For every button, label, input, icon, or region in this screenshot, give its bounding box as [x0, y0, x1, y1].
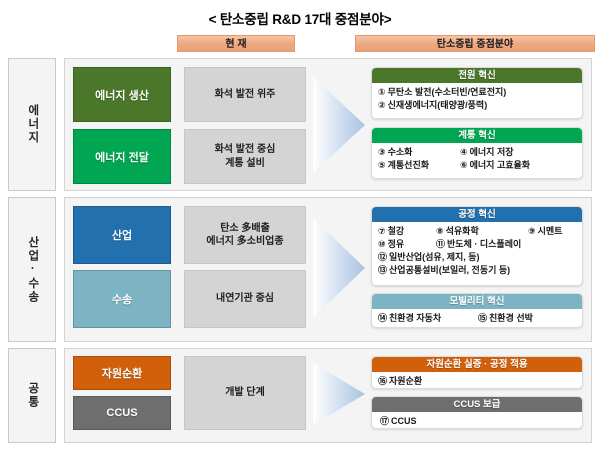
- card-body: ⑰CCUS: [372, 412, 582, 429]
- card-body: ①무탄소 발전(수소터빈/연료전지) ②신재생에너지(태양광/풍력): [372, 83, 582, 114]
- current-state-common: 개발 단계: [184, 356, 306, 430]
- category-label-energy: 에너지: [26, 104, 38, 145]
- current-state-text: 화석 발전 위주: [215, 88, 276, 102]
- list-item: ⑯자원순환: [378, 375, 576, 388]
- current-state-text: 화석 발전 중심 계통 설비: [215, 143, 276, 170]
- panel-energy: 에너지 생산 에너지 전달 화석 발전 위주 화석 발전 중심 계통 설비: [64, 58, 592, 191]
- list-item: ⑰CCUS: [378, 415, 576, 428]
- card-body: ③수소화 ④에너지 저장 ⑤계통선진화 ⑥에너지 고효율화: [372, 143, 582, 174]
- card-head-mobility-innovation: 모빌리티 혁신: [372, 294, 582, 309]
- list-item: ⑤계통선진화 ⑥에너지 고효율화: [378, 159, 576, 172]
- category-box-energy: 에너지: [8, 58, 56, 191]
- panel-common: 자원순환 CCUS 개발 단계 자원순환 실증 · 공정 적용: [64, 348, 592, 443]
- list-item: ⑬산업공통설비(보일러, 전동기 등): [378, 264, 576, 277]
- chip-energy-delivery: 에너지 전달: [73, 129, 171, 184]
- arrow-icon: [313, 210, 365, 326]
- category-box-industry-transport: 산업·수송: [8, 197, 56, 342]
- card-head-ccus-deployment: CCUS 보급: [372, 397, 582, 412]
- card-head-grid-innovation: 계통 혁신: [372, 128, 582, 143]
- chip-ccus: CCUS: [73, 396, 171, 430]
- card-grid-innovation: 계통 혁신 ③수소화 ④에너지 저장 ⑤계통선진화 ⑥에너지 고효율화: [371, 127, 583, 179]
- list-item: ①무탄소 발전(수소터빈/연료전지): [378, 86, 576, 99]
- arrow-icon: [313, 357, 365, 431]
- chip-transport: 수송: [73, 270, 171, 328]
- column-header-target: 탄소중립 중점분야: [355, 35, 595, 52]
- category-label-industry-transport: 산업·수송: [26, 236, 38, 304]
- page-title: < 탄소중립 R&D 17대 중점분야>: [0, 8, 600, 28]
- arrow-icon: [313, 69, 365, 181]
- row-industry-transport: 산업·수송 산업 수송 탄소 多배출 에너지 多소비업종 내연기관 중심: [8, 197, 592, 342]
- current-state-energy-production: 화석 발전 위주: [184, 67, 306, 122]
- category-label-common: 공통: [26, 382, 38, 409]
- card-ccus-deployment: CCUS 보급 ⑰CCUS: [371, 396, 583, 429]
- column-header-current: 현 재: [177, 35, 295, 52]
- current-state-text: 개발 단계: [225, 386, 265, 400]
- diagram-root: < 탄소중립 R&D 17대 중점분야> 현 재 탄소중립 중점분야 에너지 에…: [0, 0, 600, 450]
- card-body: ⑭친환경 자동차 ⑮친환경 선박: [372, 309, 582, 327]
- list-item: ⑫일반산업(섬유, 제지, 등): [378, 251, 576, 264]
- card-process-innovation: 공정 혁신 ⑦철강 ⑧석유화학 ⑨시멘트 ⑩정유 ⑪반도체 · 디스플레이 ⑫일…: [371, 206, 583, 286]
- card-head-process-innovation: 공정 혁신: [372, 207, 582, 222]
- row-energy: 에너지 에너지 생산 에너지 전달 화석 발전 위주 화석 발전 중심 계통 설…: [8, 58, 592, 191]
- list-item: ⑦철강 ⑧석유화학 ⑨시멘트: [378, 225, 576, 238]
- current-state-text: 탄소 多배출 에너지 多소비업종: [206, 222, 283, 249]
- current-state-industry: 탄소 多배출 에너지 多소비업종: [184, 206, 306, 264]
- panel-industry-transport: 산업 수송 탄소 多배출 에너지 多소비업종 내연기관 중심: [64, 197, 592, 342]
- chip-industry: 산업: [73, 206, 171, 264]
- current-state-transport: 내연기관 중심: [184, 270, 306, 328]
- card-resource-circulation: 자원순환 실증 · 공정 적용 ⑯자원순환: [371, 356, 583, 389]
- category-box-common: 공통: [8, 348, 56, 443]
- list-item: ②신재생에너지(태양광/풍력): [378, 99, 576, 112]
- list-item: ③수소화 ④에너지 저장: [378, 146, 576, 159]
- list-item: ⑩정유 ⑪반도체 · 디스플레이: [378, 238, 576, 251]
- current-state-energy-delivery: 화석 발전 중심 계통 설비: [184, 129, 306, 184]
- list-item: ⑭친환경 자동차 ⑮친환경 선박: [378, 312, 576, 325]
- card-mobility-innovation: 모빌리티 혁신 ⑭친환경 자동차 ⑮친환경 선박: [371, 293, 583, 328]
- card-body: ⑯자원순환: [372, 372, 582, 389]
- current-state-text: 내연기관 중심: [216, 292, 274, 306]
- card-head-power-innovation: 전원 혁신: [372, 68, 582, 83]
- card-head-resource-circulation: 자원순환 실증 · 공정 적용: [372, 357, 582, 372]
- card-body: ⑦철강 ⑧석유화학 ⑨시멘트 ⑩정유 ⑪반도체 · 디스플레이 ⑫일반산업(섬유…: [372, 222, 582, 279]
- card-power-innovation: 전원 혁신 ①무탄소 발전(수소터빈/연료전지) ②신재생에너지(태양광/풍력): [371, 67, 583, 119]
- row-common: 공통 자원순환 CCUS 개발 단계: [8, 348, 592, 443]
- chip-resource-circulation: 자원순환: [73, 356, 171, 390]
- chip-energy-production: 에너지 생산: [73, 67, 171, 122]
